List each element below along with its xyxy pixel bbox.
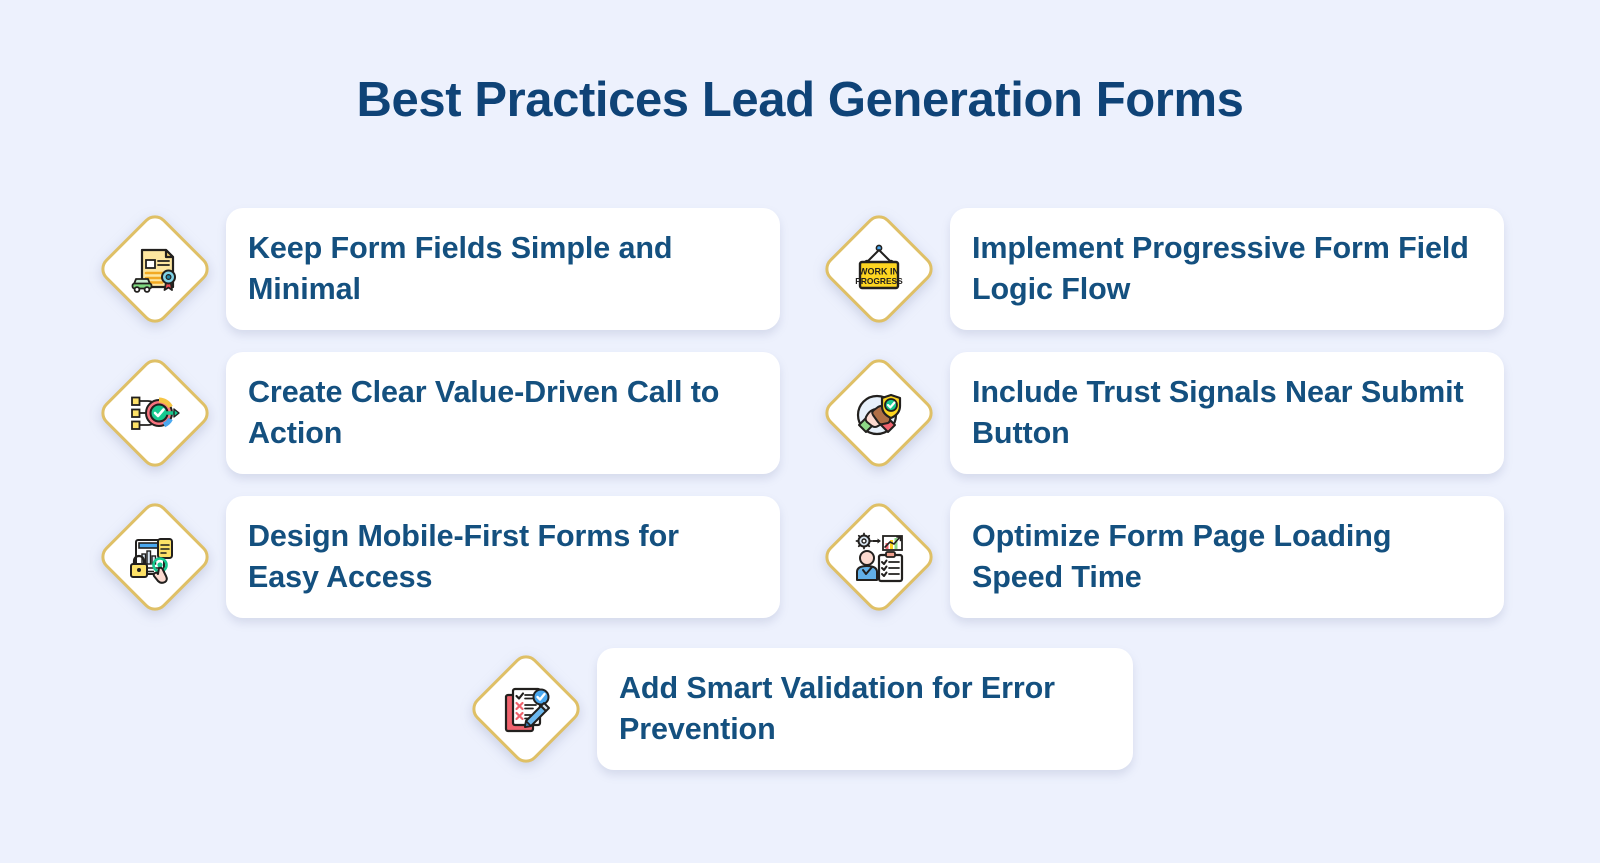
practice-card[interactable]: Optimize Form Page Loading Speed Time xyxy=(950,496,1504,618)
practice-item[interactable]: Keep Form Fields Simple and Minimal xyxy=(96,208,780,330)
practice-label: Include Trust Signals Near Submit Button xyxy=(972,372,1478,453)
practice-card[interactable]: Keep Form Fields Simple and Minimal xyxy=(226,208,780,330)
practice-item[interactable]: WORK IN PROGRESS Implement Progressive F… xyxy=(820,208,1504,330)
handshake-shield-icon xyxy=(820,354,938,472)
practice-label: Implement Progressive Form Field Logic F… xyxy=(972,228,1478,309)
bottom-row: Add Smart Validation for Error Preventio… xyxy=(0,648,1600,770)
target-funnel-check-icon xyxy=(96,354,214,472)
svg-text:PROGRESS: PROGRESS xyxy=(855,276,903,286)
practice-item[interactable]: Optimize Form Page Loading Speed Time xyxy=(820,496,1504,618)
practice-card[interactable]: Design Mobile-First Forms for Easy Acces… xyxy=(226,496,780,618)
practice-item[interactable]: Create Clear Value-Driven Call to Action xyxy=(96,352,780,474)
checklist-pencil-icon xyxy=(467,650,585,768)
svg-text:WORK IN: WORK IN xyxy=(859,267,899,277)
practice-card[interactable]: Include Trust Signals Near Submit Button xyxy=(950,352,1504,474)
practices-board: Keep Form Fields Simple and Minimal xyxy=(96,208,1504,638)
work-in-progress-sign-icon: WORK IN PROGRESS xyxy=(820,210,938,328)
practice-card[interactable]: Create Clear Value-Driven Call to Action xyxy=(226,352,780,474)
page-title: Best Practices Lead Generation Forms xyxy=(0,72,1600,128)
practice-item[interactable]: Add Smart Validation for Error Preventio… xyxy=(467,648,1133,770)
practice-label: Add Smart Validation for Error Preventio… xyxy=(619,668,1107,749)
left-column: Keep Form Fields Simple and Minimal xyxy=(96,208,780,640)
practice-label: Keep Form Fields Simple and Minimal xyxy=(248,228,754,309)
practice-item[interactable]: Design Mobile-First Forms for Easy Acces… xyxy=(96,496,780,618)
certificate-car-icon xyxy=(96,210,214,328)
person-chart-clipboard-icon xyxy=(820,498,938,616)
practice-label: Optimize Form Page Loading Speed Time xyxy=(972,516,1478,597)
mobile-lock-hand-icon xyxy=(96,498,214,616)
practice-item[interactable]: Include Trust Signals Near Submit Button xyxy=(820,352,1504,474)
practice-card[interactable]: Implement Progressive Form Field Logic F… xyxy=(950,208,1504,330)
practice-label: Design Mobile-First Forms for Easy Acces… xyxy=(248,516,754,597)
right-column: WORK IN PROGRESS Implement Progressive F… xyxy=(820,208,1504,640)
practice-label: Create Clear Value-Driven Call to Action xyxy=(248,372,754,453)
practice-card[interactable]: Add Smart Validation for Error Preventio… xyxy=(597,648,1133,770)
